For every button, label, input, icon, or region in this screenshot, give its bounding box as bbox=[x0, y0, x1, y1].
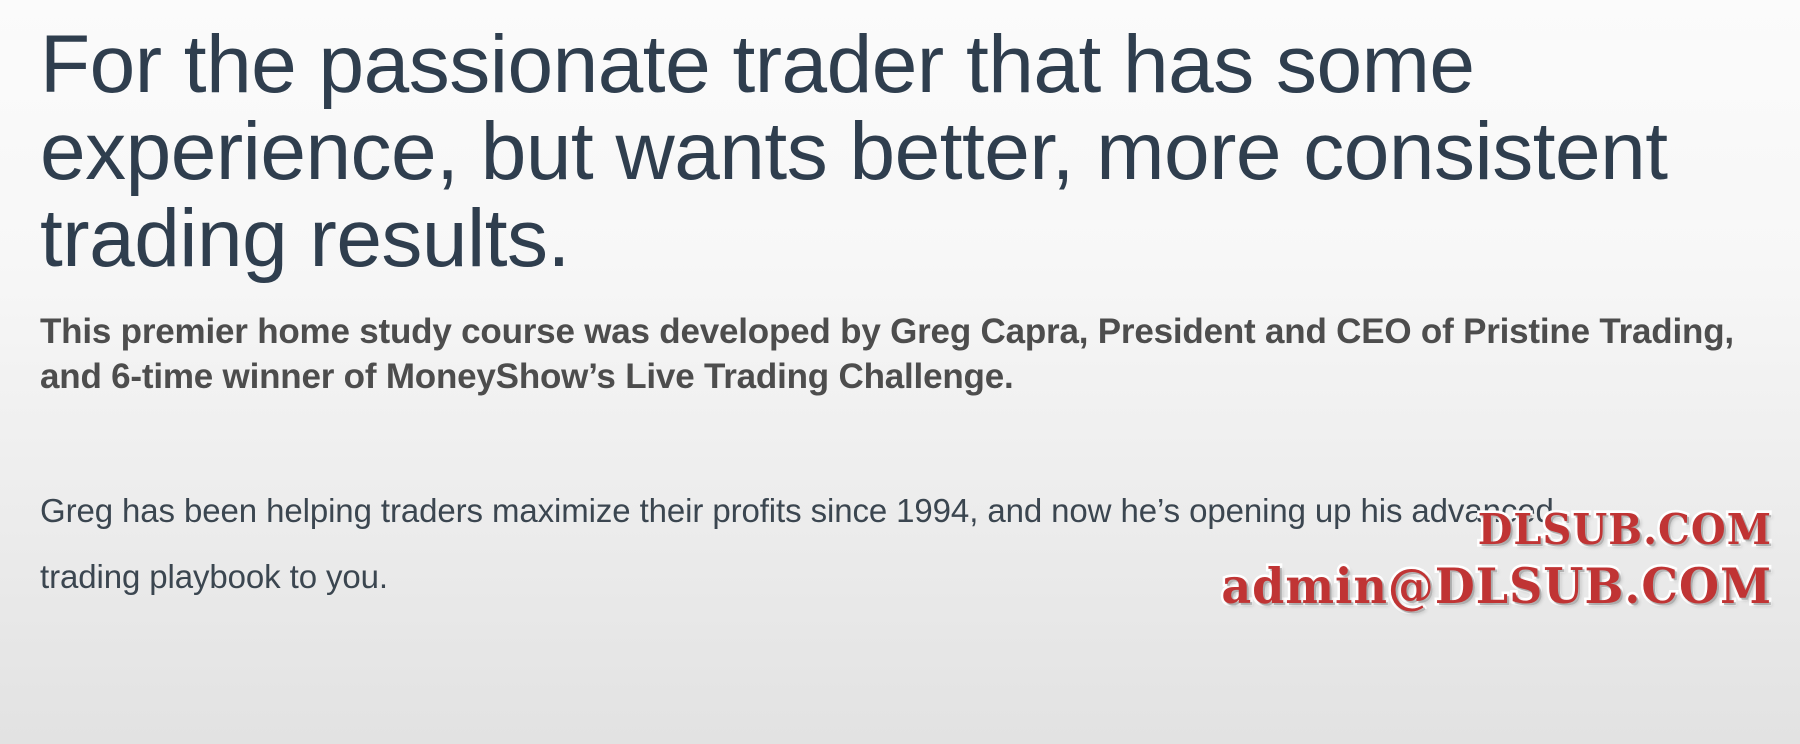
body-paragraph: Greg has been helping traders maximize t… bbox=[40, 478, 1560, 610]
page-title: For the passionate trader that has some … bbox=[40, 22, 1780, 283]
hero-section: For the passionate trader that has some … bbox=[0, 0, 1800, 744]
subheadline-text: This premier home study course was devel… bbox=[40, 310, 1740, 400]
